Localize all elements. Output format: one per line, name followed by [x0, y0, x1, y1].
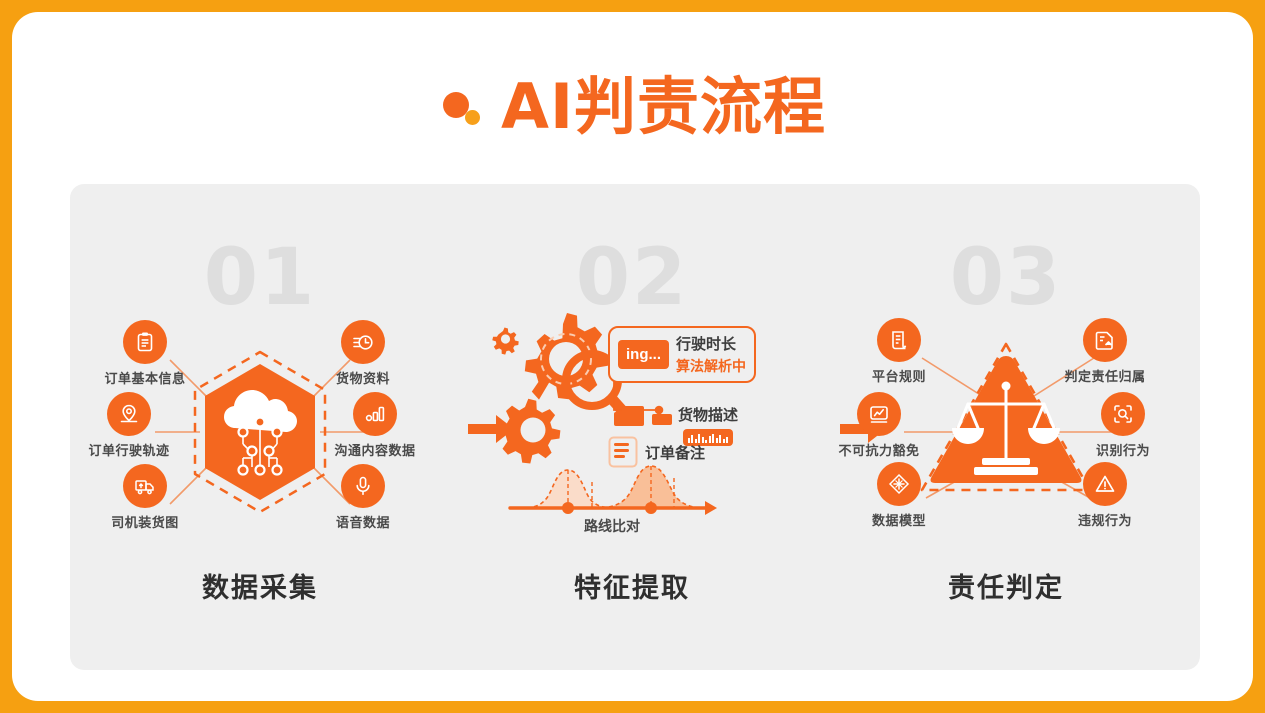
- node-violation-behavior[interactable]: 违规行为: [1062, 462, 1148, 529]
- callout-sublabel: 算法解析中: [676, 356, 746, 376]
- assign-responsibility-icon: [1083, 318, 1127, 362]
- node-label: 数据模型: [856, 510, 942, 529]
- route-comparison-label: 路线比对: [584, 516, 640, 536]
- callout-label: 行驶时长: [676, 333, 746, 354]
- location-pin-icon: [107, 392, 151, 436]
- node-assign-responsibility[interactable]: 判定责任归属: [1062, 318, 1148, 385]
- node-identify-behavior[interactable]: 识别行为: [1080, 392, 1166, 459]
- clock-record-icon: [341, 320, 385, 364]
- rules-scroll-icon: [877, 318, 921, 362]
- warning-triangle-icon: [1083, 462, 1127, 506]
- node-label: 平台规则: [856, 366, 942, 385]
- node-force-majeure-exemption[interactable]: 不可抗力豁免: [836, 392, 922, 459]
- step-01-number: 01: [80, 239, 440, 317]
- node-order-basic-info[interactable]: 订单基本信息: [102, 320, 188, 387]
- node-label: 判定责任归属: [1062, 366, 1148, 385]
- step-02-caption: 特征提取: [462, 566, 802, 605]
- node-label: 沟通内容数据: [332, 440, 418, 459]
- step-03-number: 03: [822, 239, 1190, 317]
- callout-label: 订单备注: [645, 442, 705, 463]
- page-title: AI判责流程: [501, 76, 826, 138]
- callout-label: 货物描述: [678, 404, 738, 425]
- step-02-stage: ing... 行驶时长 算法解析中 货物描述: [462, 312, 802, 552]
- node-voice-data[interactable]: 语音数据: [320, 464, 406, 531]
- node-label: 不可抗力豁免: [836, 440, 922, 459]
- step-02: 02: [462, 184, 802, 670]
- gear-medium: [497, 399, 560, 464]
- clipboard-document-icon: [123, 320, 167, 364]
- step-01: 01: [80, 184, 440, 670]
- step-03: 03: [822, 184, 1190, 670]
- bars-icon: [614, 406, 672, 426]
- node-label: 违规行为: [1062, 510, 1148, 529]
- content-panel: 01: [70, 184, 1200, 670]
- node-label: 订单基本信息: [102, 368, 188, 387]
- node-communication-data[interactable]: 沟通内容数据: [332, 392, 418, 459]
- gear-large: [525, 313, 609, 400]
- callout-order-remark[interactable]: 订单备注: [608, 436, 705, 468]
- step-03-stage: 平台规则 不可抗力豁免: [822, 312, 1190, 552]
- node-driver-loading-photo[interactable]: 司机装货图: [102, 464, 188, 531]
- node-data-model[interactable]: 数据模型: [856, 462, 942, 529]
- page-title-row: AI判责流程: [12, 62, 1253, 152]
- slide-frame: AI判责流程 01: [12, 12, 1253, 701]
- callout-driving-duration[interactable]: ing... 行驶时长 算法解析中: [608, 326, 756, 383]
- step-01-caption: 数据采集: [80, 566, 440, 605]
- note-document-icon: [608, 436, 638, 468]
- node-label: 货物资料: [320, 368, 406, 387]
- node-order-track[interactable]: 订单行驶轨迹: [86, 392, 172, 459]
- processing-badge-icon: ing...: [618, 340, 669, 369]
- node-label: 订单行驶轨迹: [86, 440, 172, 459]
- microphone-icon: [341, 464, 385, 508]
- route-comparison-chart: [510, 466, 717, 515]
- node-label: 司机装货图: [102, 512, 188, 531]
- title-dots-icon: [439, 82, 495, 132]
- step-03-caption: 责任判定: [822, 566, 1190, 605]
- dot-small-icon: [465, 110, 480, 125]
- bar-chart-icon: [353, 392, 397, 436]
- monitor-chart-icon: [857, 392, 901, 436]
- node-platform-rules[interactable]: 平台规则: [856, 318, 942, 385]
- node-cargo-data[interactable]: 货物资料: [320, 320, 406, 387]
- step-02-number: 02: [462, 239, 802, 317]
- node-label: 语音数据: [320, 512, 406, 531]
- scan-search-icon: [1101, 392, 1145, 436]
- truck-loading-icon: [123, 464, 167, 508]
- data-model-cube-icon: [877, 462, 921, 506]
- step-01-stage: 订单基本信息 订单行驶轨迹: [80, 312, 440, 552]
- node-label: 识别行为: [1080, 440, 1166, 459]
- gear-small: [492, 328, 518, 355]
